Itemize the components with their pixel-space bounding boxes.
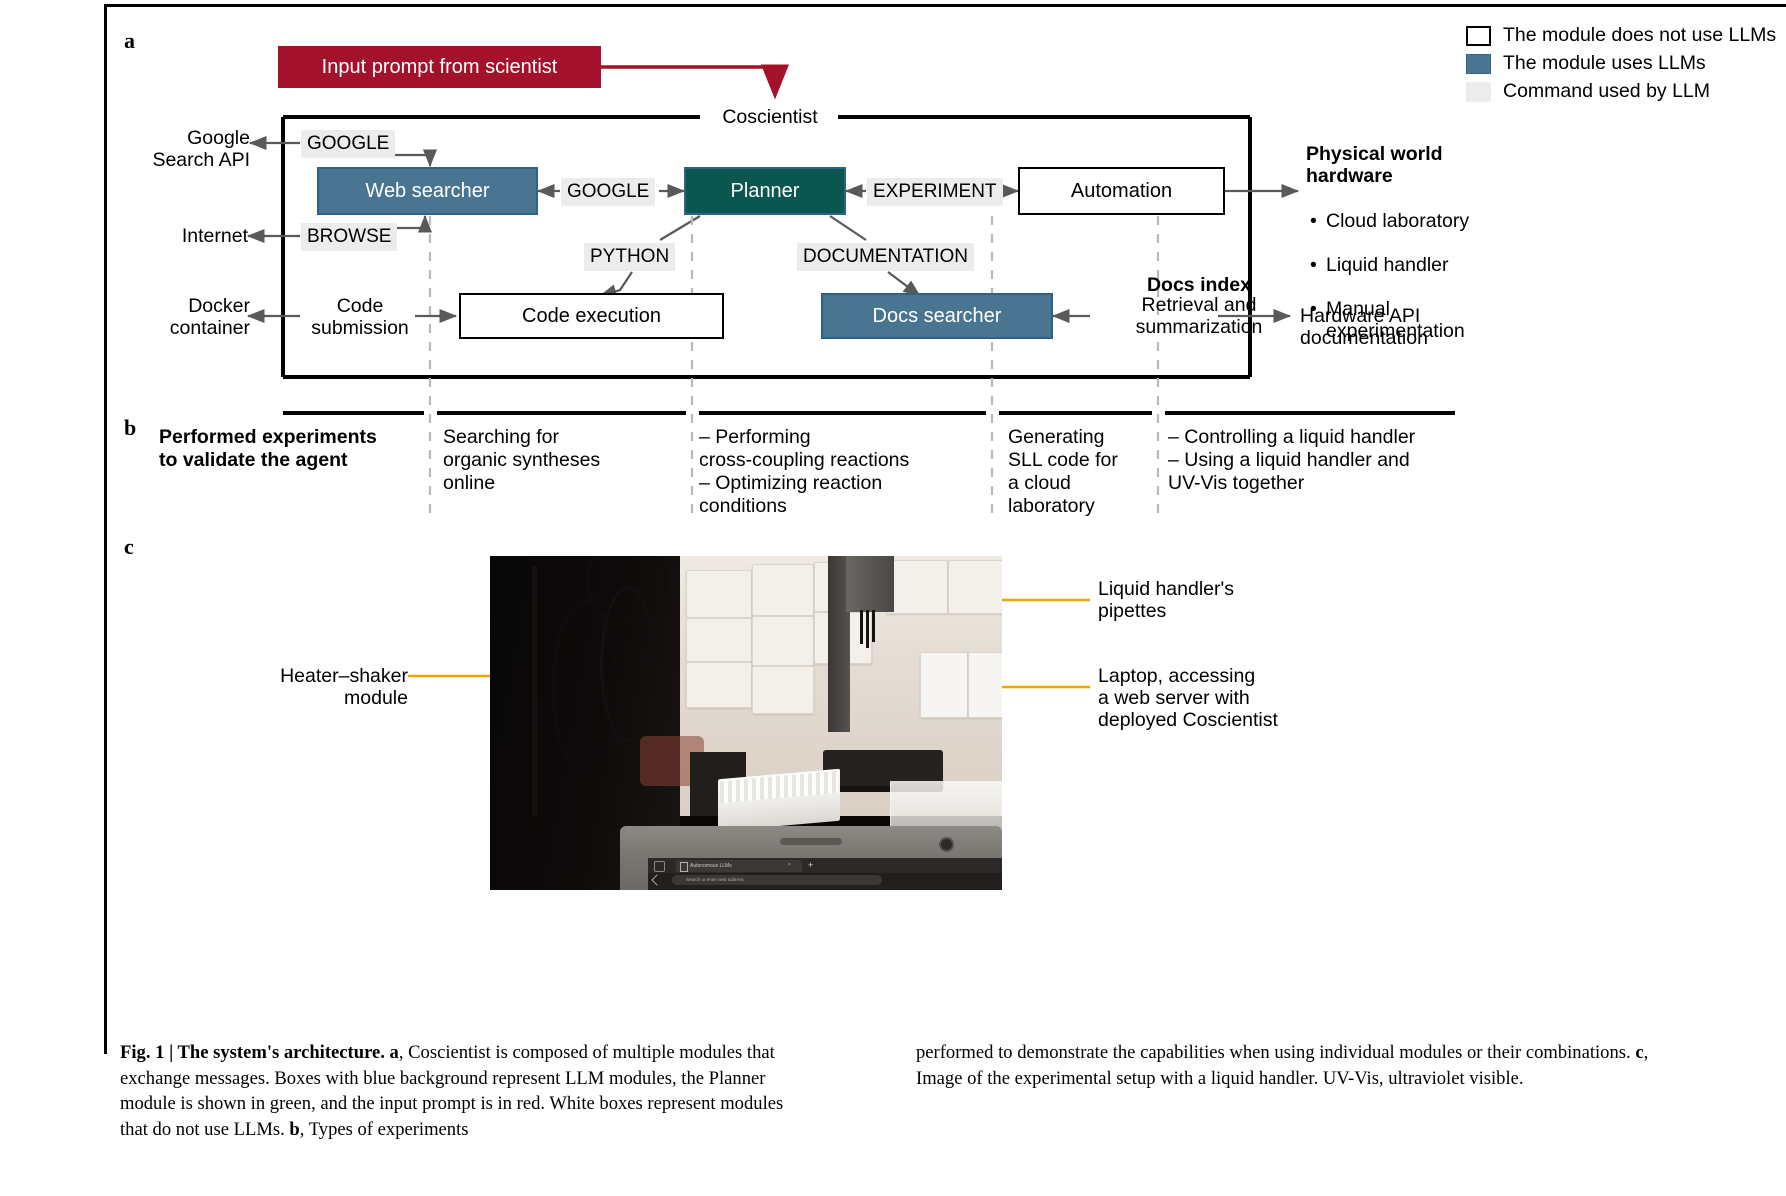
legend-label-no-llm: The module does not use LLMs xyxy=(1503,24,1776,47)
page-icon xyxy=(680,862,688,872)
code-submission-label: Code submission xyxy=(306,295,414,339)
google-search-api-label: Google Search API xyxy=(130,127,250,171)
docs-index-title: Docs index xyxy=(1090,274,1308,296)
experimental-setup-photo: Autonomous LLMs × + Search or enter web … xyxy=(490,556,1002,890)
module-docs-searcher: Docs searcher xyxy=(821,293,1053,339)
photo-pipette-tip xyxy=(866,610,869,648)
photo-bottle xyxy=(968,652,1002,718)
legend-label-uses-llm: The module uses LLMs xyxy=(1503,52,1706,75)
tab-list-icon[interactable] xyxy=(654,861,665,872)
panel-letter-b: b xyxy=(124,415,136,441)
experiments-title: Performed experiments to validate the ag… xyxy=(159,426,409,472)
photo-lab-box xyxy=(752,564,814,616)
page-left-rule xyxy=(104,4,107,1054)
internet-label: Internet xyxy=(130,225,248,247)
new-tab-icon[interactable]: + xyxy=(808,860,813,871)
photo-pipette-tip xyxy=(872,610,875,642)
panel-letter-c: c xyxy=(124,534,134,560)
figure-page: The module does not use LLMs The module … xyxy=(0,0,1786,1196)
photo-pipette-head xyxy=(846,556,894,612)
module-web-searcher: Web searcher xyxy=(317,167,538,215)
command-google-left: GOOGLE xyxy=(301,130,395,158)
photo-lab-box xyxy=(752,666,814,714)
photo-cable xyxy=(552,600,618,776)
module-planner: Planner xyxy=(684,167,846,215)
page-top-rule xyxy=(104,4,1786,7)
legend-item-uses-llm: The module uses LLMs xyxy=(1466,50,1776,77)
photo-lab-box xyxy=(686,662,752,708)
command-python: PYTHON xyxy=(584,243,675,271)
experiments-col-reactions: – Performing cross-coupling reactions – … xyxy=(699,426,979,518)
browser-tab[interactable]: Autonomous LLMs xyxy=(676,860,802,872)
legend-item-no-llm: The module does not use LLMs xyxy=(1466,22,1776,49)
photo-lab-box xyxy=(686,570,752,618)
legend-swatch-grey-box xyxy=(1466,82,1491,102)
experiments-col-sll: Generating SLL code for a cloud laborato… xyxy=(1008,426,1158,518)
annotation-laptop: Laptop, accessing a web server with depl… xyxy=(1098,665,1398,731)
command-google-mid: GOOGLE xyxy=(561,178,655,206)
photo-lab-box xyxy=(948,560,1002,614)
panel-letter-a: a xyxy=(124,28,135,54)
legend-item-command: Command used by LLM xyxy=(1466,78,1776,105)
browser-address-bar[interactable]: Search or enter web address xyxy=(672,875,882,885)
photo-pipette-tip xyxy=(860,610,863,644)
annotation-pipettes: Liquid handler's pipettes xyxy=(1098,578,1378,622)
physical-hardware-title: Physical world hardware xyxy=(1306,143,1506,187)
annotation-heater-shaker: Heater–shaker module xyxy=(230,665,408,709)
browser-tab-bar: Autonomous LLMs × + xyxy=(648,858,1002,873)
command-browse: BROWSE xyxy=(301,223,397,251)
photo-bottle xyxy=(920,652,968,718)
photo-laptop-screen: Autonomous LLMs × + Search or enter web … xyxy=(648,858,1002,890)
photo-stand-rod xyxy=(532,566,537,816)
legend-label-command: Command used by LLM xyxy=(1503,80,1710,103)
docker-container-label: Docker container xyxy=(130,295,250,339)
tab-close-icon[interactable]: × xyxy=(788,862,791,868)
hardware-item-cloud-lab: • Cloud laboratory xyxy=(1310,210,1540,232)
docs-index-subtitle: Retrieval and summarization xyxy=(1090,294,1308,338)
photo-lab-box xyxy=(752,616,814,666)
bullet-icon: • xyxy=(1310,210,1326,232)
experiments-col-search: Searching for organic syntheses online xyxy=(443,426,673,495)
module-automation: Automation xyxy=(1018,167,1225,215)
photo-microplate xyxy=(718,769,840,832)
command-experiment: EXPERIMENT xyxy=(867,178,1003,206)
module-code-execution: Code execution xyxy=(459,293,724,339)
legend-swatch-white-box xyxy=(1466,26,1491,46)
experiments-col-liquid-handler: – Controlling a liquid handler – Using a… xyxy=(1168,426,1468,495)
command-documentation: DOCUMENTATION xyxy=(797,243,974,271)
hardware-item-liquid-handler: • Liquid handler xyxy=(1310,254,1540,276)
legend-swatch-blue-box xyxy=(1466,54,1491,74)
hardware-api-doc-label: Hardware API documentation xyxy=(1300,305,1520,349)
bullet-icon: • xyxy=(1310,254,1326,276)
photo-laptop-hinge xyxy=(780,838,842,845)
legend: The module does not use LLMs The module … xyxy=(1466,22,1776,106)
coscientist-label: Coscientist xyxy=(704,106,836,128)
photo-lab-box xyxy=(886,560,948,614)
photo-laptop-camera xyxy=(939,837,954,852)
caption-left-column: Fig. 1 | The system's architecture. a, C… xyxy=(120,1040,788,1142)
back-arrow-icon[interactable] xyxy=(651,874,662,885)
caption-right-column: performed to demonstrate the capabilitie… xyxy=(916,1040,1676,1091)
photo-lab-box xyxy=(686,618,752,662)
input-prompt-box: Input prompt from scientist xyxy=(278,46,601,88)
